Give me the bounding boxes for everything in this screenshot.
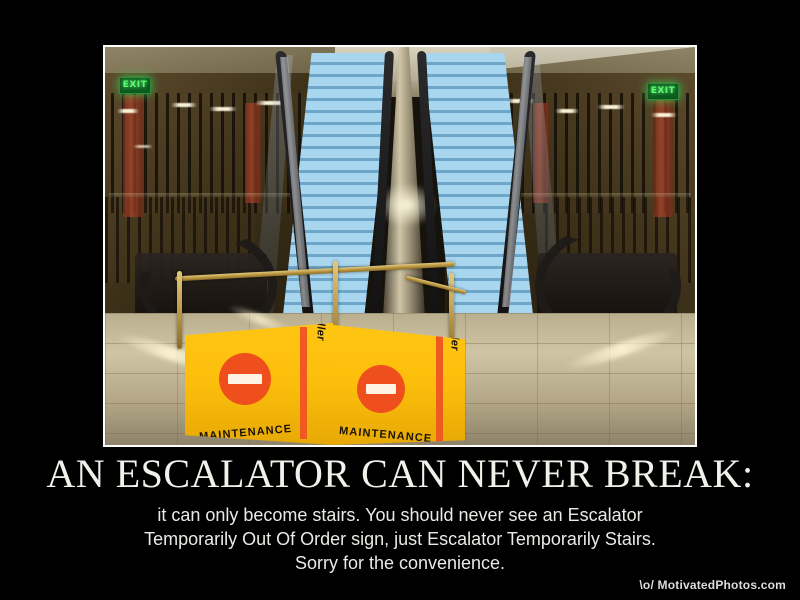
- no-entry-bar-left: [228, 374, 261, 384]
- no-entry-icon-left: [219, 353, 271, 405]
- page-title: AN ESCALATOR CAN NEVER BREAK:: [0, 452, 800, 496]
- caption: it can only become stairs. You should ne…: [0, 503, 800, 575]
- light-strip-left-1: [117, 109, 139, 113]
- light-strip-left-2: [171, 103, 197, 107]
- maintenance-barricade-left: Schindler MAINTENANCE: [185, 323, 333, 445]
- watermark: \o/ MotivatedPhotos.com: [639, 578, 786, 592]
- exit-sign-right-icon: EXIT: [647, 83, 679, 100]
- caption-line-1: it can only become stairs. You should ne…: [0, 503, 800, 527]
- barricade-accent-stripe-left: [300, 327, 307, 439]
- light-strip-left-5: [133, 145, 153, 148]
- pillar-left-inner: [245, 103, 261, 203]
- caption-line-2: Temporarily Out Of Order sign, just Esca…: [0, 527, 800, 551]
- exit-sign-left-icon: EXIT: [119, 77, 151, 94]
- light-strip-left-3: [209, 107, 237, 111]
- safety-rail-post-left: [177, 271, 182, 349]
- demotivational-poster: EXIT EXIT: [0, 0, 800, 600]
- escalator-photo: EXIT EXIT: [105, 47, 695, 445]
- light-strip-right-1: [651, 113, 677, 117]
- photo-frame: EXIT EXIT: [103, 45, 697, 447]
- shelf-band-left: [109, 193, 319, 198]
- pillar-left: [123, 95, 143, 217]
- caption-line-3: Sorry for the convenience.: [0, 551, 800, 575]
- barricade-accent-stripe-right: [436, 335, 443, 443]
- light-strip-right-2: [597, 105, 625, 109]
- light-strip-right-3: [555, 109, 579, 113]
- no-entry-icon-right: [357, 365, 405, 413]
- maintenance-barricade-right: Schindler MAINTENANCE: [333, 325, 465, 445]
- no-entry-bar-right: [366, 384, 397, 393]
